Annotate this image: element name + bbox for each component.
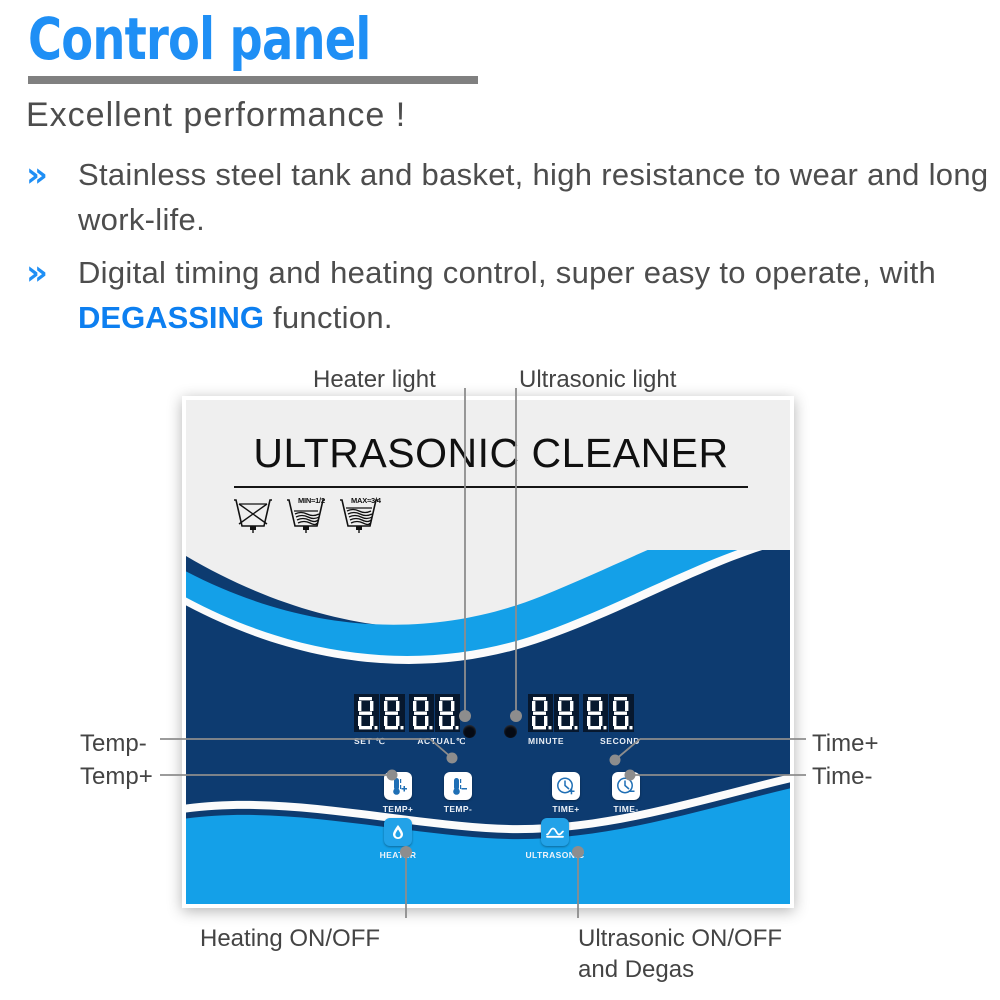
callout-ultrasonic-on-off: Ultrasonic ON/OFF and Degas: [578, 923, 782, 985]
page-subtitle: Excellent performance !: [26, 96, 406, 135]
bullet-2-lead: Digital timing and heating control, supe…: [78, 255, 936, 290]
temp-digit-group-actual: [409, 694, 461, 732]
control-panel-photo: ULTRASONIC CLEANER: [182, 396, 794, 908]
thermometer-minus-icon: [448, 776, 468, 796]
timer-display: [528, 694, 635, 732]
seven-segment-digit: [528, 694, 553, 732]
tank-min-level-icon: MIN≈1/2: [283, 494, 329, 534]
set-temp-label: SET ℃: [354, 736, 385, 747]
callout-time-minus: Time-: [812, 761, 872, 792]
time-plus-button[interactable]: [552, 772, 580, 800]
tank-max-level-icon: MAX≈3/4: [336, 494, 382, 534]
bullet-2-tail: function.: [264, 300, 393, 335]
ultrasonic-button[interactable]: [541, 818, 569, 846]
bullet-2-emphasis: DEGASSING: [78, 300, 264, 335]
tank-min-caption: MIN≈1/2: [298, 496, 325, 505]
panel-brand-title: ULTRASONIC CLEANER: [236, 430, 746, 477]
water-level-icon-group: MIN≈1/2 MAX≈3/4: [230, 494, 382, 534]
seven-segment-digit: [609, 694, 634, 732]
seven-segment-digit: [435, 694, 460, 732]
ultrasonic-label: ULTRASONIC: [520, 850, 590, 860]
seven-segment-digit: [583, 694, 608, 732]
callout-temp-minus: Temp-: [80, 728, 147, 759]
temp-digit-group-set: [354, 694, 406, 732]
callout-heater-light: Heater light: [313, 364, 436, 395]
actual-temp-label: ACTUAL℃: [417, 736, 466, 747]
seven-segment-digit: [380, 694, 405, 732]
sound-wave-icon: [545, 823, 565, 841]
callout-heating-on-off: Heating ON/OFF: [200, 923, 380, 954]
timer-display-labels: MINUTE SECOND: [528, 736, 640, 746]
minute-label: MINUTE: [528, 736, 564, 746]
feature-bullet-2-text: Digital timing and heating control, supe…: [78, 250, 993, 340]
temp-minus-button[interactable]: [444, 772, 472, 800]
seven-segment-digit: [409, 694, 434, 732]
temp-plus-button[interactable]: [384, 772, 412, 800]
clock-minus-icon: [616, 776, 636, 796]
thermometer-plus-icon: [388, 776, 408, 796]
seven-segment-digit: [354, 694, 379, 732]
time-minus-button[interactable]: [612, 772, 640, 800]
timer-digit-group-second: [583, 694, 635, 732]
panel-face: ULTRASONIC CLEANER: [186, 400, 790, 904]
timer-digit-group-minute: [528, 694, 580, 732]
heater-label: HEATER: [363, 850, 433, 860]
feature-bullet-1: » Stainless steel tank and basket, high …: [26, 152, 993, 242]
callout-time-plus: Time+: [812, 728, 878, 759]
feature-bullet-2: » Digital timing and heating control, su…: [26, 250, 993, 340]
callout-temp-plus: Temp+: [80, 761, 153, 792]
temperature-display: [354, 694, 461, 732]
bullet-1-lead: Stainless steel tank and basket, high re…: [78, 157, 988, 237]
double-chevron-right-icon: »: [26, 250, 78, 290]
panel-brand-underline: [234, 486, 748, 488]
clock-plus-icon: [556, 776, 576, 796]
time-minus-label: TIME-: [591, 804, 661, 814]
callout-ultrasonic-light: Ultrasonic light: [519, 364, 676, 395]
second-label: SECOND: [600, 736, 640, 746]
ultrasonic-indicator-led: [504, 725, 517, 738]
double-chevron-right-icon: »: [26, 152, 78, 192]
temp-minus-label: TEMP-: [423, 804, 493, 814]
water-drop-icon: [389, 823, 407, 841]
heater-button[interactable]: [384, 818, 412, 846]
page-title: Control panel: [28, 8, 371, 70]
title-underline-rule: [28, 76, 478, 84]
feature-bullet-1-text: Stainless steel tank and basket, high re…: [78, 152, 993, 242]
tank-max-caption: MAX≈3/4: [351, 496, 381, 505]
seven-segment-digit: [554, 694, 579, 732]
temperature-display-labels: SET ℃ ACTUAL℃: [354, 736, 466, 747]
tank-empty-icon: [230, 494, 276, 534]
heater-indicator-led: [463, 725, 476, 738]
